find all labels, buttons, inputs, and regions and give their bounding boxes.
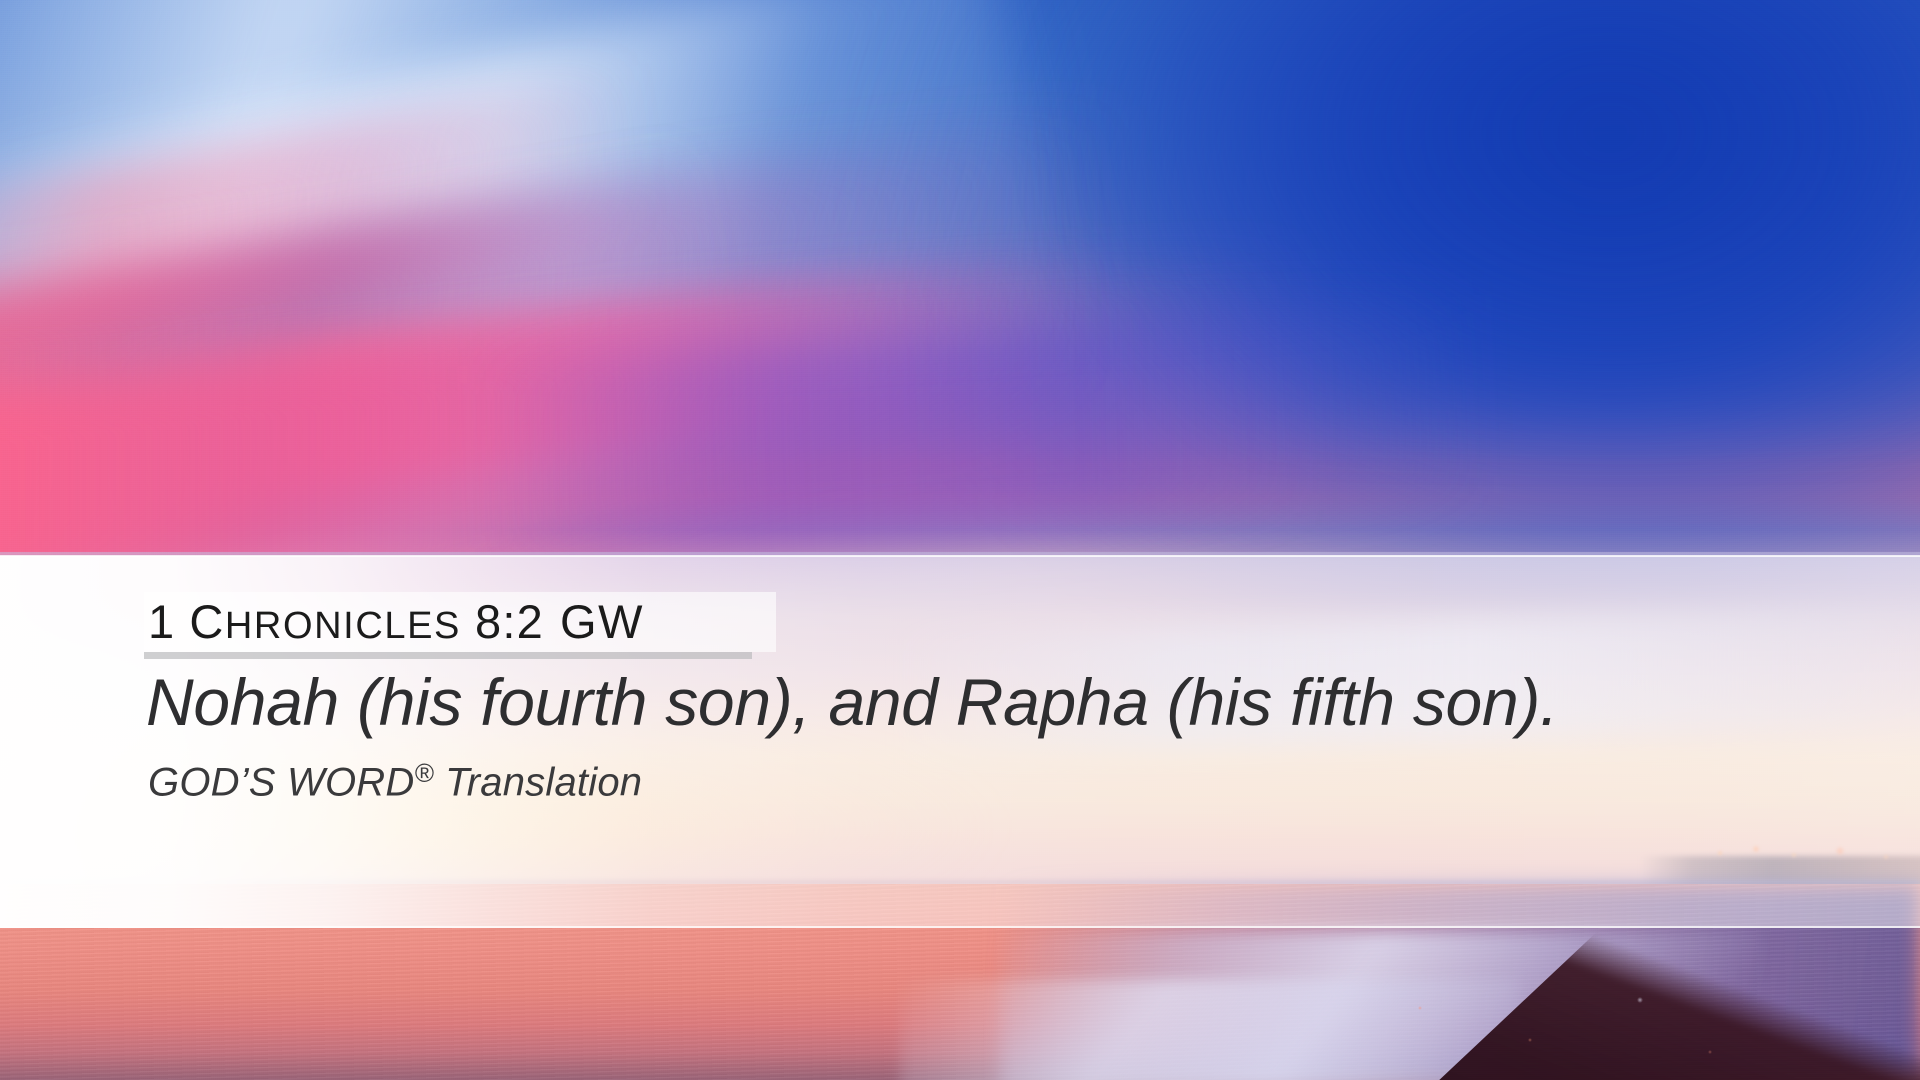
registered-trademark-icon: ® <box>414 758 433 788</box>
verse-reference: 1CHRONICLES8:2GW <box>148 598 644 645</box>
reference-book-number: 1 <box>148 595 175 648</box>
reference-chapter-verse: 8:2 <box>475 595 544 648</box>
verse-content: 1CHRONICLES8:2GW Nohah (his fourth son),… <box>0 556 1920 928</box>
reference-translation: GW <box>560 595 644 648</box>
verse-reference-group: 1CHRONICLES8:2GW <box>148 598 644 645</box>
reference-underline <box>144 652 752 659</box>
attribution-name: GOD’S WORD <box>148 761 414 805</box>
translation-attribution: GOD’S WORD® Translation <box>148 758 642 806</box>
reference-book-initial: C <box>189 595 225 648</box>
attribution-suffix: Translation <box>434 761 642 805</box>
beach-pebble-glints <box>1380 980 1800 1080</box>
scripture-image-card: 1CHRONICLES8:2GW Nohah (his fourth son),… <box>0 0 1920 1080</box>
verse-text: Nohah (his fourth son), and Rapha (his f… <box>146 666 1886 740</box>
reference-book-name: HRONICLES <box>225 605 461 647</box>
